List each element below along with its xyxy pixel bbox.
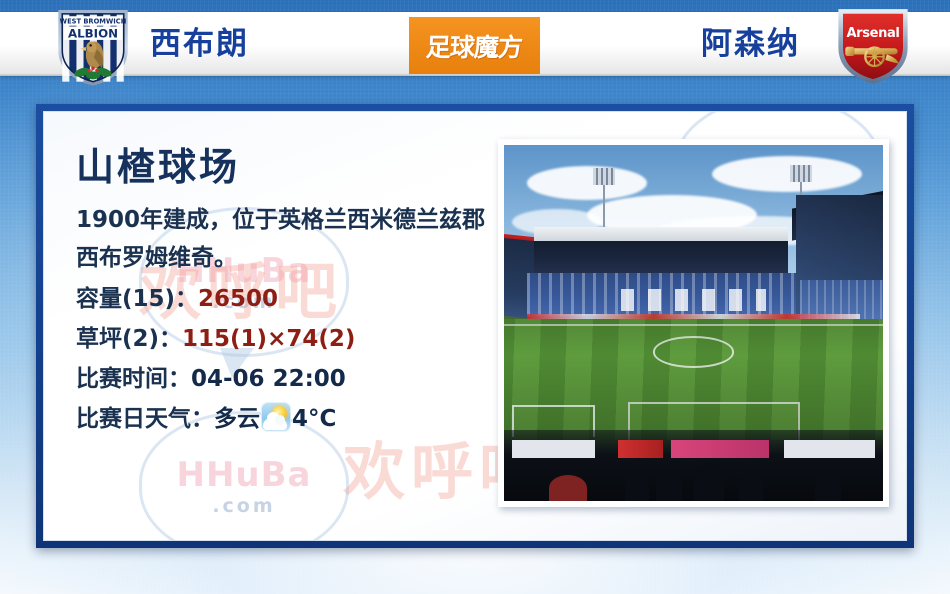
stadium-title: 山楂球场	[76, 141, 506, 193]
stadium-info-panel: HHuBa .com HHuBa .com HHuBa .com 欢呼吧 欢呼吧…	[43, 111, 907, 541]
home-team-name: 西布朗	[150, 22, 249, 66]
stadium-photo	[504, 145, 883, 501]
capacity-value: 26500	[198, 286, 278, 312]
cloud	[712, 156, 862, 192]
match-time-row: 比赛时间：04-06 22:00	[76, 359, 506, 399]
near-advert	[671, 440, 770, 458]
stadium-info-panel-frame: HHuBa .com HHuBa .com HHuBa .com 欢呼吧 欢呼吧…	[36, 104, 914, 548]
match-time-label: 比赛时间：	[76, 366, 191, 392]
temperature-value: 4°C	[292, 406, 336, 432]
away-team-name: 阿森纳	[701, 22, 800, 66]
spectator	[549, 475, 587, 501]
near-advert	[784, 440, 875, 458]
pitch-label: 草坪(2)：	[76, 326, 182, 352]
capacity-row: 容量(15)：26500	[76, 279, 506, 319]
svg-text:WEST BROMWICH: WEST BROMWICH	[60, 17, 127, 25]
stadium-photo-frame	[498, 139, 889, 507]
cloud-shape	[263, 418, 287, 430]
site-brand-logo: 足球魔方	[409, 17, 540, 74]
match-time-value: 04-06 22:00	[191, 366, 346, 392]
main-stand-body	[534, 241, 788, 273]
partly-cloudy-icon	[261, 402, 291, 432]
spectator	[625, 471, 649, 501]
weather-row: 比赛日天气：多云4°C	[76, 399, 506, 439]
spectator	[694, 463, 724, 501]
watermark-domain: .com	[212, 495, 275, 517]
stand-seat-lettering	[621, 289, 765, 310]
weather-label: 比赛日天气：	[76, 406, 214, 432]
pitch-value: 115(1)×74(2)	[182, 326, 355, 352]
arsenal-crest-icon: Arsenal	[834, 6, 912, 86]
spectator	[656, 469, 682, 501]
pitch-row: 草坪(2)：115(1)×74(2)	[76, 319, 506, 359]
capacity-label: 容量(15)：	[76, 286, 198, 312]
svg-text:ALBION: ALBION	[68, 27, 118, 41]
watermark-brand-en: HHuBa	[177, 455, 312, 495]
near-advert	[512, 440, 595, 458]
spectator	[739, 473, 763, 501]
stadium-description: 1900年建成，位于英格兰西米德兰兹郡西布罗姆维奇。	[76, 201, 506, 277]
west-bromwich-albion-crest-icon: WEST BROMWICH ALBION	[52, 6, 134, 88]
spectator	[815, 471, 841, 501]
match-header: WEST BROMWICH ALBION 西布朗 足球魔方 阿森纳	[0, 0, 950, 88]
weather-value: 多云	[214, 406, 260, 432]
svg-text:Arsenal: Arsenal	[846, 26, 899, 41]
stadium-info-column: 山楂球场 1900年建成，位于英格兰西米德兰兹郡西布罗姆维奇。 容量(15)：2…	[76, 141, 506, 439]
near-advert	[618, 440, 663, 458]
site-brand-text: 足球魔方	[426, 28, 524, 64]
main-stand-roof	[534, 227, 788, 241]
